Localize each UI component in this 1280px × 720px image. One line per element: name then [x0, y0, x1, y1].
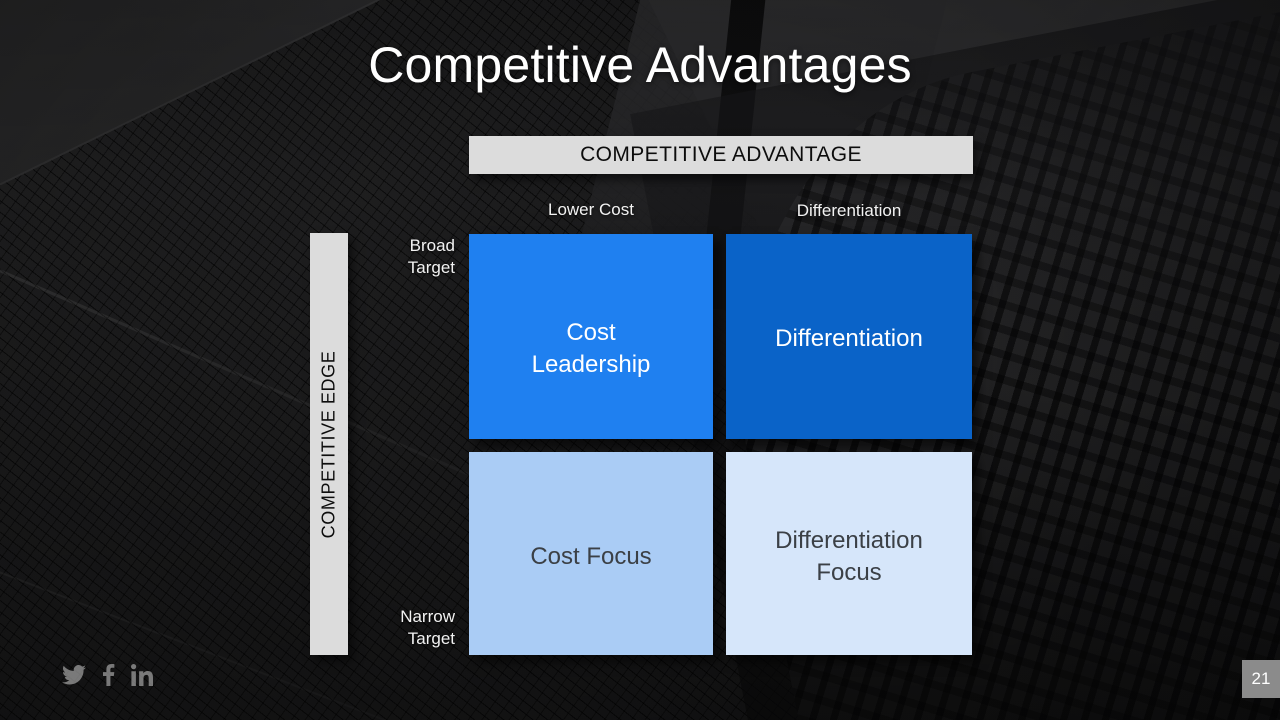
row-label-broad-line2: Target	[345, 257, 455, 279]
quadrant-cost-leadership[interactable]: Cost Leadership	[469, 234, 713, 439]
row-label-broad-target: Broad Target	[345, 235, 455, 279]
page-number-badge: 21	[1242, 660, 1280, 698]
facebook-icon[interactable]	[102, 664, 115, 686]
page-title: Competitive Advantages	[0, 38, 1280, 93]
twitter-icon[interactable]	[62, 665, 86, 685]
quadrant-cost-focus[interactable]: Cost Focus	[469, 452, 713, 655]
competitive-edge-axis-bar: COMPETITIVE EDGE	[310, 233, 348, 655]
quadrant-cost-leadership-label: Cost Leadership	[532, 317, 651, 380]
column-header-lower-cost: Lower Cost	[469, 200, 713, 220]
quadrant-differentiation-label: Differentiation	[775, 323, 923, 355]
quadrant-cost-leadership-line2: Leadership	[532, 349, 651, 381]
social-links	[62, 664, 153, 686]
row-label-narrow-target: Narrow Target	[345, 606, 455, 650]
quadrant-cost-focus-label: Cost Focus	[530, 541, 651, 573]
column-header-differentiation: Differentiation	[726, 201, 972, 221]
quadrant-differentiation-focus-line1: Differentiation	[775, 525, 923, 557]
slide-competitive-advantages: Competitive Advantages COMPETITIVE ADVAN…	[0, 0, 1280, 720]
competitive-advantage-header-label: COMPETITIVE ADVANTAGE	[580, 143, 862, 167]
row-label-narrow-line2: Target	[345, 628, 455, 650]
competitive-edge-axis-label: COMPETITIVE EDGE	[319, 350, 340, 538]
row-label-broad-line1: Broad	[345, 235, 455, 257]
competitive-advantage-header-bar: COMPETITIVE ADVANTAGE	[469, 136, 973, 174]
quadrant-cost-leadership-line1: Cost	[532, 317, 651, 349]
quadrant-differentiation[interactable]: Differentiation	[726, 234, 972, 439]
row-label-narrow-line1: Narrow	[345, 606, 455, 628]
linkedin-icon[interactable]	[131, 664, 153, 686]
quadrant-differentiation-focus[interactable]: Differentiation Focus	[726, 452, 972, 655]
quadrant-differentiation-focus-label: Differentiation Focus	[775, 525, 923, 588]
quadrant-differentiation-focus-line2: Focus	[775, 557, 923, 589]
